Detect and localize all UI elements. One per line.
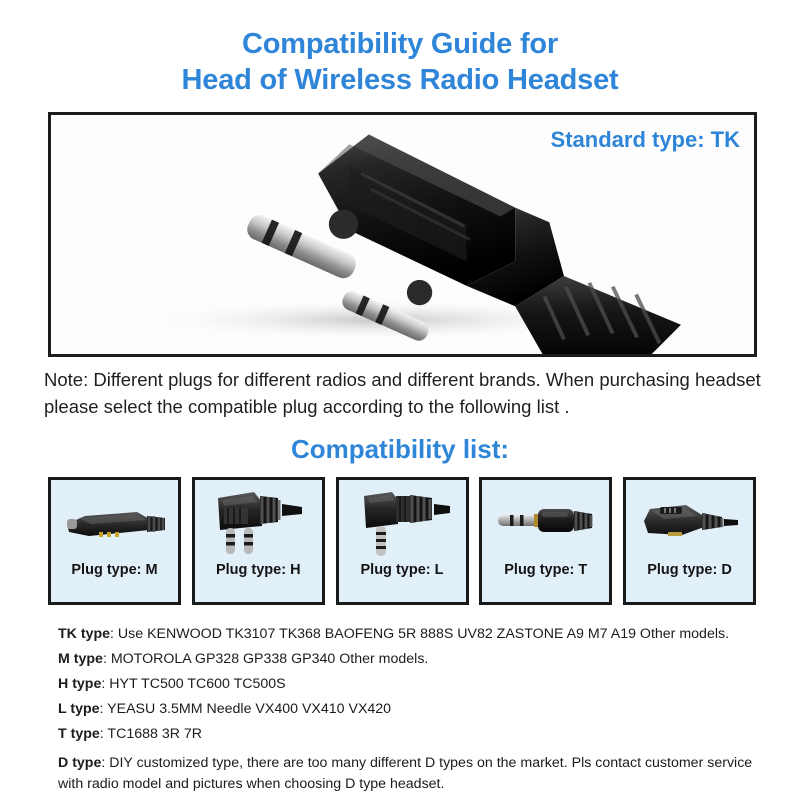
two-pin-right-angle-plug-icon bbox=[195, 480, 322, 562]
spec-key: D type bbox=[58, 755, 101, 771]
page-title-line-2: Head of Wireless Radio Headset bbox=[0, 62, 800, 98]
plug-card-label: Plug type: H bbox=[216, 562, 301, 578]
plug-card-label: Plug type: M bbox=[71, 562, 157, 578]
hero-image-frame: Standard type: TK bbox=[48, 112, 757, 357]
plug-card-t[interactable]: Plug type: T bbox=[479, 477, 612, 605]
spec-value: : MOTOROLA GP328 GP338 GP340 Other model… bbox=[103, 651, 428, 667]
note-text: Note: Different plugs for different radi… bbox=[44, 366, 762, 420]
spec-value: : TC1688 3R 7R bbox=[100, 726, 202, 742]
diy-shaped-plug-icon bbox=[626, 480, 753, 562]
motorola-flat-plug-icon bbox=[51, 480, 178, 562]
straight-3-5mm-trs-plug-icon bbox=[482, 480, 609, 562]
plug-card-d[interactable]: Plug type: D bbox=[623, 477, 756, 605]
page-title: Compatibility Guide for Head of Wireless… bbox=[0, 0, 800, 98]
hero-standard-type-label: Standard type: TK bbox=[551, 127, 740, 153]
compatibility-list-heading: Compatibility list: bbox=[0, 434, 800, 465]
spec-value: : HYT TC500 TC600 TC500S bbox=[101, 676, 285, 692]
plug-card-label: Plug type: T bbox=[504, 562, 587, 578]
spec-key: M type bbox=[58, 651, 103, 667]
spec-value: : YEASU 3.5MM Needle VX400 VX410 VX420 bbox=[100, 701, 392, 717]
spec-row-l: L type: YEASU 3.5MM Needle VX400 VX410 V… bbox=[58, 697, 764, 722]
plug-card-l[interactable]: Plug type: L bbox=[336, 477, 469, 605]
spec-value: : Use KENWOOD TK3107 TK368 BAOFENG 5R 88… bbox=[110, 626, 729, 642]
spec-row-t: T type: TC1688 3R 7R bbox=[58, 722, 764, 747]
spec-row-h: H type: HYT TC500 TC600 TC500S bbox=[58, 672, 764, 697]
spec-key: L type bbox=[58, 701, 100, 717]
page-title-line-1: Compatibility Guide for bbox=[0, 26, 800, 62]
compatibility-spec-list: TK type: Use KENWOOD TK3107 TK368 BAOFEN… bbox=[58, 622, 764, 795]
plug-card-m[interactable]: Plug type: M bbox=[48, 477, 181, 605]
right-angle-single-pin-plug-icon bbox=[339, 480, 466, 562]
spec-key: TK type bbox=[58, 626, 110, 642]
spec-value: : DIY customized type, there are too man… bbox=[58, 755, 752, 792]
spec-row-d: D type: DIY customized type, there are t… bbox=[58, 753, 764, 795]
plug-card-row: Plug type: M bbox=[48, 477, 756, 605]
spec-row-m: M type: MOTOROLA GP328 GP338 GP340 Other… bbox=[58, 647, 764, 672]
spec-key: T type bbox=[58, 726, 100, 742]
spec-key: H type bbox=[58, 676, 101, 692]
plug-card-label: Plug type: D bbox=[647, 562, 732, 578]
plug-card-h[interactable]: Plug type: H bbox=[192, 477, 325, 605]
plug-card-label: Plug type: L bbox=[361, 562, 444, 578]
spec-row-tk: TK type: Use KENWOOD TK3107 TK368 BAOFEN… bbox=[58, 622, 764, 647]
